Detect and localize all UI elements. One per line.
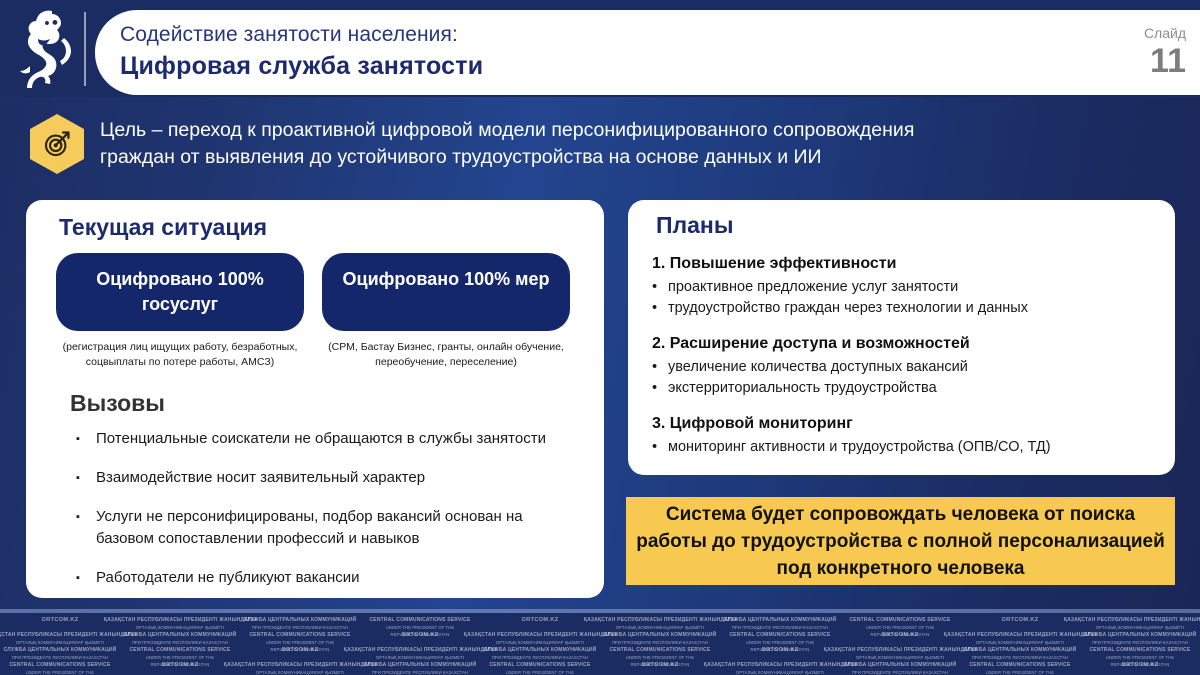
callout-box: Система будет сопровождать человека от п… xyxy=(626,497,1175,585)
list-item: • мониторинг активности и трудоустройств… xyxy=(652,437,1162,458)
watermark-text: СЛУЖБА ЦЕНТРАЛЬНЫХ КОММУНИКАЦИЙПРИ ПРЕЗИ… xyxy=(364,662,477,675)
kazakhstan-snow-leopard-emblem xyxy=(14,8,76,88)
plan-heading: 2. Расширение доступа и возможностей xyxy=(652,332,1162,355)
challenges-title: Вызовы xyxy=(70,390,165,417)
watermark-text: ҚАЗАҚСТАН РЕСПУБЛИКАСЫ ПРЕЗИДЕНТІ ЖАНЫНД… xyxy=(944,632,1096,646)
dot-bullet-icon: • xyxy=(652,357,668,378)
plans-card: Планы 1. Повышение эффективности • проак… xyxy=(628,200,1175,475)
watermark-text: ҚАЗАҚСТАН РЕСПУБЛИКАСЫ ПРЕЗИДЕНТІ ЖАНЫНД… xyxy=(464,632,616,646)
watermark-text: ORTCOM.KZ xyxy=(1122,662,1159,669)
watermark-text: CENTRAL COMMUNICATIONS SERVICEUNDER THE … xyxy=(9,662,110,675)
square-bullet-icon: ▪ xyxy=(76,467,96,489)
header-divider xyxy=(84,12,86,86)
challenge-text: Взаимодействие носит заявительный характ… xyxy=(96,467,425,489)
watermark-text: СЛУЖБА ЦЕНТРАЛЬНЫХ КОММУНИКАЦИЙПРИ ПРЕЗИ… xyxy=(724,617,837,631)
target-arrow-icon xyxy=(30,114,84,174)
callout-text: Система будет сопровождать человека от п… xyxy=(636,501,1165,582)
plan-item-text: увеличение количества доступных вакансий xyxy=(668,357,968,378)
watermark-text: CENTRAL COMMUNICATIONS SERVICEUNDER THE … xyxy=(489,662,590,675)
watermark-text: ҚАЗАҚСТАН РЕСПУБЛИКАСЫ ПРЕЗИДЕНТІ ЖАНЫНД… xyxy=(824,647,976,661)
watermark-text: ҚАЗАҚСТАН РЕСПУБЛИКАСЫ ПРЕЗИДЕНТІ ЖАНЫНД… xyxy=(584,617,736,631)
header-text-block: Содействие занятости населения: Цифровая… xyxy=(120,20,483,83)
watermark-text: ҚАЗАҚСТАН РЕСПУБЛИКАСЫ ПРЕЗИДЕНТІ ЖАНЫНД… xyxy=(224,662,376,675)
digitized-pill-row: Оцифровано 100% госуслуг Оцифровано 100%… xyxy=(56,253,576,331)
list-item: ▪ Взаимодействие носит заявительный хара… xyxy=(76,467,576,489)
watermark-text: СЛУЖБА ЦЕНТРАЛЬНЫХ КОММУНИКАЦИЙПРИ ПРЕЗИ… xyxy=(964,647,1077,661)
plan-group: 2. Расширение доступа и возможностей • у… xyxy=(652,332,1162,399)
goal-text: Цель – переход к проактивной цифровой мо… xyxy=(100,117,914,171)
page-title: Цифровая служба занятости xyxy=(120,50,483,83)
watermark-text: ORTCOM.KZ xyxy=(162,662,199,669)
watermark-text: ҚАЗАҚСТАН РЕСПУБЛИКАСЫ ПРЕЗИДЕНТІ ЖАНЫНД… xyxy=(1064,617,1200,631)
dot-bullet-icon: • xyxy=(652,298,668,319)
plan-item-text: проактивное предложение услуг занятости xyxy=(668,277,958,298)
watermark-text: ҚАЗАҚСТАН РЕСПУБЛИКАСЫ ПРЕЗИДЕНТІ ЖАНЫНД… xyxy=(344,647,496,661)
list-item: ▪ Работодатели не публикуют вакансии xyxy=(76,567,576,589)
square-bullet-icon: ▪ xyxy=(76,506,96,550)
watermark-text: ORTCOM.KZ xyxy=(762,647,799,654)
header-panel: Содействие занятости населения: Цифровая… xyxy=(95,10,1200,95)
watermark-text: ORTCOM.KZ xyxy=(882,632,919,639)
plan-heading: 1. Повышение эффективности xyxy=(652,252,1162,275)
goal-text-line-2: граждан от выявления до устойчивого труд… xyxy=(100,144,914,171)
digitized-measures-pill: Оцифровано 100% мер xyxy=(322,253,570,331)
digitized-measures-note: (СРМ, Бастау Бизнес, гранты, онлайн обуч… xyxy=(322,340,570,370)
plan-item-text: трудоустройство граждан через технологии… xyxy=(668,298,1028,319)
plans-title: Планы xyxy=(656,212,733,239)
square-bullet-icon: ▪ xyxy=(76,428,96,450)
watermark-text: СЛУЖБА ЦЕНТРАЛЬНЫХ КОММУНИКАЦИЙПРИ ПРЕЗИ… xyxy=(484,647,597,661)
challenge-text: Работодатели не публикуют вакансии xyxy=(96,567,360,589)
watermark-text: ORTCOM.KZ xyxy=(402,632,439,639)
watermark-text: СЛУЖБА ЦЕНТРАЛЬНЫХ КОММУНИКАЦИЙПРИ ПРЕЗИ… xyxy=(124,632,237,646)
challenges-list: ▪ Потенциальные соискатели не обращаются… xyxy=(76,428,576,606)
plan-group: 1. Повышение эффективности • проактивное… xyxy=(652,252,1162,319)
current-situation-title: Текущая ситуация xyxy=(59,214,267,241)
list-item: • проактивное предложение услуг занятост… xyxy=(652,277,1162,298)
header-subtitle: Содействие занятости населения: xyxy=(120,20,483,50)
list-item: • экстерриториальность трудоустройства xyxy=(652,378,1162,399)
watermark-text: СЛУЖБА ЦЕНТРАЛЬНЫХ КОММУНИКАЦИЙПРИ ПРЕЗИ… xyxy=(244,617,357,631)
challenge-text: Потенциальные соискатели не обращаются в… xyxy=(96,428,546,450)
plan-group: 3. Цифровой мониторинг • мониторинг акти… xyxy=(652,412,1162,458)
list-item: ▪ Потенциальные соискатели не обращаются… xyxy=(76,428,576,450)
footer-watermark-strip: ORTCOM.KZҚАЗАҚСТАН РЕСПУБЛИКАСЫ ПРЕЗИДЕН… xyxy=(0,613,1200,675)
dot-bullet-icon: • xyxy=(652,437,668,458)
watermark-text: ҚАЗАҚСТАН РЕСПУБЛИКАСЫ ПРЕЗИДЕНТІ ЖАНЫНД… xyxy=(104,617,256,631)
watermark-text: ҚАЗАҚСТАН РЕСПУБЛИКАСЫ ПРЕЗИДЕНТІ ЖАНЫНД… xyxy=(0,632,136,646)
watermark-text: CENTRAL COMMUNICATIONS SERVICEUNDER THE … xyxy=(969,662,1070,675)
slide-number-block: Слайд 11 xyxy=(1144,24,1186,80)
watermark-text: ORTCOM.KZ xyxy=(42,617,79,624)
challenge-text: Услуги не персонифицированы, подбор вака… xyxy=(96,506,576,550)
dot-bullet-icon: • xyxy=(652,378,668,399)
list-item: ▪ Услуги не персонифицированы, подбор ва… xyxy=(76,506,576,550)
digitized-services-pill: Оцифровано 100% госуслуг xyxy=(56,253,304,331)
plans-list: 1. Повышение эффективности • проактивное… xyxy=(652,252,1162,471)
list-item: • трудоустройство граждан через технолог… xyxy=(652,298,1162,319)
digitized-services-note: (регистрация лиц ищущих работу, безработ… xyxy=(56,340,304,370)
slide-number-label: Слайд xyxy=(1144,24,1186,42)
watermark-text: СЛУЖБА ЦЕНТРАЛЬНЫХ КОММУНИКАЦИЙПРИ ПРЕЗИ… xyxy=(604,632,717,646)
watermark-text: ORTCOM.KZ xyxy=(642,662,679,669)
watermark-text: СЛУЖБА ЦЕНТРАЛЬНЫХ КОММУНИКАЦИЙПРИ ПРЕЗИ… xyxy=(4,647,117,661)
dot-bullet-icon: • xyxy=(652,277,668,298)
plan-item-text: экстерриториальность трудоустройства xyxy=(668,378,937,399)
watermark-text: ORTCOM.KZ xyxy=(522,617,559,624)
watermark-grid: ORTCOM.KZҚАЗАҚСТАН РЕСПУБЛИКАСЫ ПРЕЗИДЕН… xyxy=(0,613,1200,675)
square-bullet-icon: ▪ xyxy=(76,567,96,589)
plan-heading: 3. Цифровой мониторинг xyxy=(652,412,1162,435)
plan-item-text: мониторинг активности и трудоустройства … xyxy=(668,437,1051,458)
watermark-text: СЛУЖБА ЦЕНТРАЛЬНЫХ КОММУНИКАЦИЙПРИ ПРЕЗИ… xyxy=(844,662,957,675)
watermark-text: СЛУЖБА ЦЕНТРАЛЬНЫХ КОММУНИКАЦИЙПРИ ПРЕЗИ… xyxy=(1084,632,1197,646)
current-situation-card: Текущая ситуация Оцифровано 100% госуслу… xyxy=(26,200,604,598)
watermark-text: ORTCOM.KZ xyxy=(1002,617,1039,624)
slide-number-value: 11 xyxy=(1144,42,1186,80)
goal-text-line-1: Цель – переход к проактивной цифровой мо… xyxy=(100,117,914,144)
watermark-text: ҚАЗАҚСТАН РЕСПУБЛИКАСЫ ПРЕЗИДЕНТІ ЖАНЫНД… xyxy=(704,662,856,675)
digitized-notes-row: (регистрация лиц ищущих работу, безработ… xyxy=(56,340,576,370)
goal-banner: Цель – переход к проактивной цифровой мо… xyxy=(30,106,1170,182)
list-item: • увеличение количества доступных ваканс… xyxy=(652,357,1162,378)
slide-header: Содействие занятости населения: Цифровая… xyxy=(0,0,1200,97)
watermark-text: ORTCOM.KZ xyxy=(282,647,319,654)
slide: Содействие занятости населения: Цифровая… xyxy=(0,0,1200,675)
